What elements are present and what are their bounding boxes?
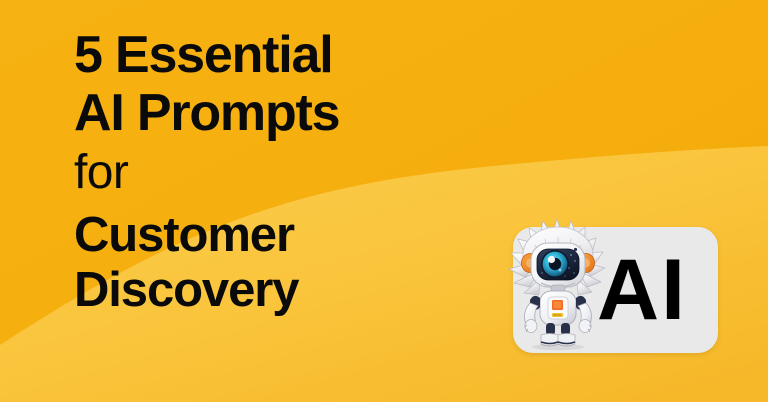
headline-block: 5 Essential AI Prompts for Customer Disc… <box>74 26 514 318</box>
headline-line-5: Discovery <box>74 263 514 318</box>
einstein-robot-mascot-icon <box>505 213 615 355</box>
ai-badge-card: AI <box>513 227 718 353</box>
headline-line-1: 5 Essential <box>74 26 514 84</box>
headline-line-4: Customer <box>74 208 514 263</box>
headline-line-3: for <box>74 142 514 204</box>
headline-line-2: AI Prompts <box>74 84 514 142</box>
promo-banner: 5 Essential AI Prompts for Customer Disc… <box>0 0 768 402</box>
